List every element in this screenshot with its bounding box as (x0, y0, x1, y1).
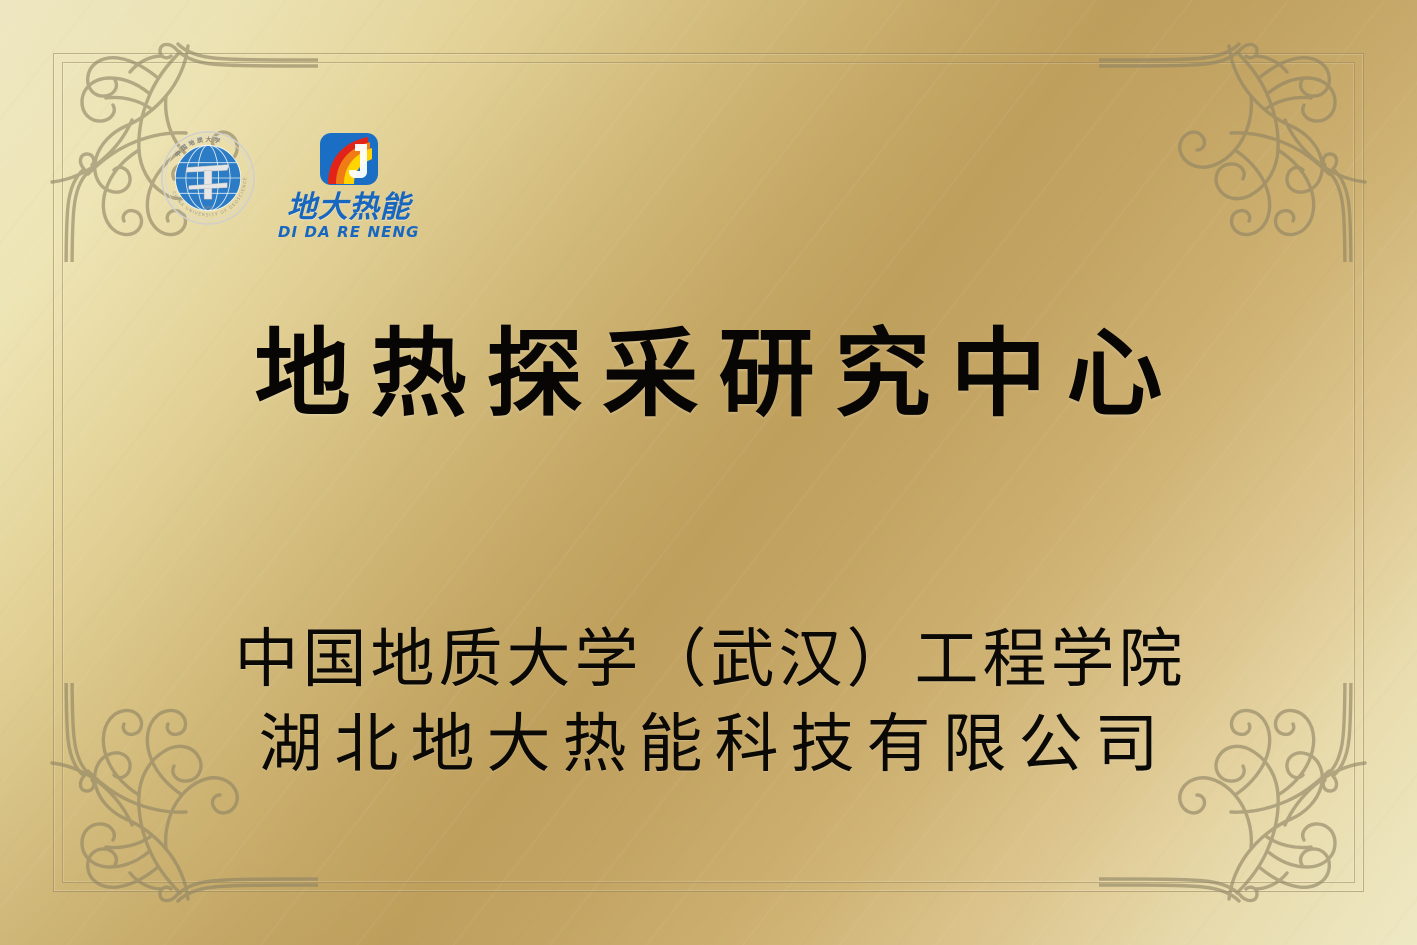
logo-row: 中国地质大学 CHINA UNIVERSITY OF GEOSCIENCES 1… (160, 130, 420, 241)
subtitle-line-company: 湖北地大热能科技有限公司 (0, 703, 1417, 788)
plaque-subtitle-block: 中国地质大学（武汉）工程学院 湖北地大热能科技有限公司 (0, 618, 1417, 788)
cug-globe-seal-icon: 中国地质大学 CHINA UNIVERSITY OF GEOSCIENCES 1… (160, 130, 256, 226)
company-name-en: DI DA RE NENG (278, 224, 420, 241)
plaque-title: 地热探采研究中心 (0, 324, 1417, 426)
company-logo: 地大热能 DI DA RE NENG (278, 132, 420, 241)
subtitle-line-university: 中国地质大学（武汉）工程学院 (0, 618, 1417, 703)
award-plaque: 中国地质大学 CHINA UNIVERSITY OF GEOSCIENCES 1… (0, 0, 1417, 945)
corner-flourish-icon (1099, 12, 1399, 262)
company-name-cn: 地大热能 (287, 193, 411, 223)
didareneng-rainbow-mark-icon (318, 132, 380, 192)
svg-text:1952: 1952 (203, 206, 214, 211)
